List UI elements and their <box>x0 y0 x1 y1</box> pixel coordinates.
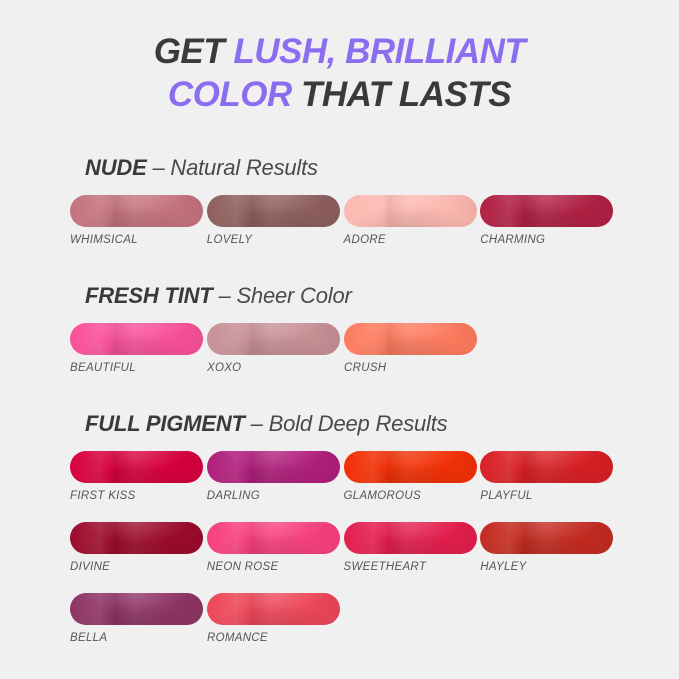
swatch-label: CRUSH <box>344 362 479 374</box>
swatch-grid-fresh-tint: BEAUTIFUL XOXO CRUSH <box>70 323 615 374</box>
swatch-label: CHARMING <box>480 234 615 246</box>
section-full-pigment-name: FULL PIGMENT <box>85 411 245 436</box>
swatch-row: DIVINE NEON ROSE SWEETHEART HAYLEY <box>70 522 615 573</box>
section-nude-separator: – <box>147 155 171 180</box>
section-nude-name: NUDE <box>85 155 147 180</box>
headline-line-2: COLOR THAT LASTS <box>0 73 679 116</box>
swatch-cell[interactable]: FIRST KISS <box>70 451 205 502</box>
swatch-color[interactable] <box>344 522 477 554</box>
section-fresh-tint-separator: – <box>213 283 237 308</box>
swatch-cell[interactable]: SWEETHEART <box>344 522 479 573</box>
swatch-label: NEON ROSE <box>207 561 342 573</box>
swatch-color[interactable] <box>480 522 613 554</box>
swatch-label: FIRST KISS <box>70 490 205 502</box>
swatch-label: DARLING <box>207 490 342 502</box>
swatch-color[interactable] <box>344 451 477 483</box>
swatch-color[interactable] <box>480 451 613 483</box>
section-fresh-tint-title: FRESH TINT – Sheer Color <box>85 283 679 309</box>
swatch-color[interactable] <box>70 451 203 483</box>
swatch-cell[interactable]: CHARMING <box>480 195 615 246</box>
swatch-color[interactable] <box>207 323 340 355</box>
swatch-cell[interactable]: BEAUTIFUL <box>70 323 205 374</box>
swatch-grid-full-pigment: FIRST KISS DARLING GLAMOROUS PLAYFUL DIV… <box>70 451 615 644</box>
page-title: GET LUSH, BRILLIANT COLOR THAT LASTS <box>0 30 679 117</box>
swatch-row: BELLA ROMANCE <box>70 593 615 644</box>
swatch-label: PLAYFUL <box>480 490 615 502</box>
swatch-cell[interactable]: NEON ROSE <box>207 522 342 573</box>
swatch-cell[interactable]: BELLA <box>70 593 205 644</box>
section-full-pigment: FULL PIGMENT – Bold Deep Results FIRST K… <box>0 411 679 644</box>
headline-line-1-dark: GET <box>154 32 234 71</box>
headline-line-2-accent: COLOR <box>168 75 301 114</box>
swatch-cell[interactable]: GLAMOROUS <box>344 451 479 502</box>
headline-line-1-accent: LUSH, BRILLIANT <box>233 32 525 71</box>
section-fresh-tint-name: FRESH TINT <box>85 283 213 308</box>
section-nude-title: NUDE – Natural Results <box>85 155 679 181</box>
swatch-cell[interactable]: ADORE <box>344 195 479 246</box>
swatch-cell[interactable]: PLAYFUL <box>480 451 615 502</box>
section-nude: NUDE – Natural Results WHIMSICAL LOVELY … <box>0 155 679 246</box>
swatch-cell[interactable]: ROMANCE <box>207 593 342 644</box>
swatch-row: BEAUTIFUL XOXO CRUSH <box>70 323 615 374</box>
swatch-color[interactable] <box>207 195 340 227</box>
swatch-label: XOXO <box>207 362 342 374</box>
swatch-color[interactable] <box>344 323 477 355</box>
swatch-row: FIRST KISS DARLING GLAMOROUS PLAYFUL <box>70 451 615 502</box>
swatch-cell[interactable]: DIVINE <box>70 522 205 573</box>
swatch-color[interactable] <box>70 195 203 227</box>
section-full-pigment-separator: – <box>245 411 269 436</box>
swatch-label: BEAUTIFUL <box>70 362 205 374</box>
section-nude-description: Natural Results <box>170 155 317 180</box>
swatch-grid-nude: WHIMSICAL LOVELY ADORE CHARMING <box>70 195 615 246</box>
swatch-color[interactable] <box>207 451 340 483</box>
swatch-label: BELLA <box>70 632 205 644</box>
swatch-cell[interactable]: HAYLEY <box>480 522 615 573</box>
swatch-color[interactable] <box>344 195 477 227</box>
swatch-label: SWEETHEART <box>344 561 479 573</box>
swatch-color[interactable] <box>480 195 613 227</box>
swatch-cell[interactable]: CRUSH <box>344 323 479 374</box>
section-full-pigment-title: FULL PIGMENT – Bold Deep Results <box>85 411 679 437</box>
swatch-cell[interactable]: XOXO <box>207 323 342 374</box>
swatch-label: LOVELY <box>207 234 342 246</box>
swatch-color[interactable] <box>70 522 203 554</box>
swatch-cell[interactable]: WHIMSICAL <box>70 195 205 246</box>
headline-line-2-dark: THAT LASTS <box>301 75 511 114</box>
headline-line-1: GET LUSH, BRILLIANT <box>0 30 679 73</box>
swatch-label: ROMANCE <box>207 632 342 644</box>
swatch-label: WHIMSICAL <box>70 234 205 246</box>
section-full-pigment-description: Bold Deep Results <box>269 411 448 436</box>
swatch-label: DIVINE <box>70 561 205 573</box>
swatch-color[interactable] <box>70 593 203 625</box>
swatch-label: ADORE <box>344 234 479 246</box>
swatch-color[interactable] <box>207 522 340 554</box>
section-fresh-tint-description: Sheer Color <box>236 283 351 308</box>
swatch-cell[interactable]: DARLING <box>207 451 342 502</box>
swatch-label: GLAMOROUS <box>344 490 479 502</box>
swatch-color[interactable] <box>70 323 203 355</box>
swatch-color[interactable] <box>207 593 340 625</box>
section-fresh-tint: FRESH TINT – Sheer Color BEAUTIFUL XOXO … <box>0 283 679 374</box>
swatch-row: WHIMSICAL LOVELY ADORE CHARMING <box>70 195 615 246</box>
swatch-cell[interactable]: LOVELY <box>207 195 342 246</box>
swatch-label: HAYLEY <box>480 561 615 573</box>
